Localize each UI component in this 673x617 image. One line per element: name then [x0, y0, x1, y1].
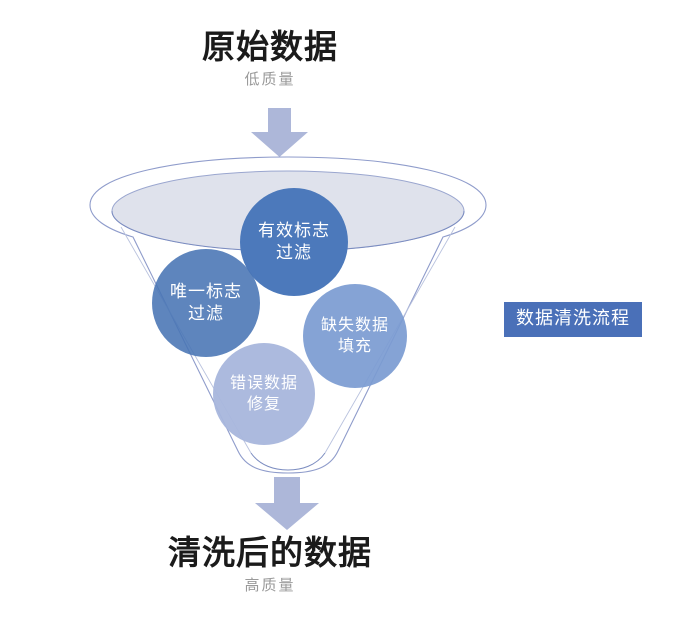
data-cleaning-funnel-diagram: 原始数据 低质量 有效标志 过滤 唯一标志 过滤 缺失数据 填充 错误数据 修复…: [0, 0, 673, 617]
step-label-line2: 过滤: [276, 242, 312, 264]
step-label-line1: 缺失数据: [321, 315, 389, 336]
step-bubble-valid-flag-filter[interactable]: 有效标志 过滤: [240, 188, 348, 296]
step-bubble-unique-flag-filter[interactable]: 唯一标志 过滤: [152, 249, 260, 357]
down-arrow-icon: [252, 477, 322, 531]
step-bubble-error-data-repair[interactable]: 错误数据 修复: [213, 343, 315, 445]
step-label-line1: 有效标志: [258, 220, 330, 242]
subtitle-low-quality: 低质量: [0, 71, 540, 89]
step-label-line2: 填充: [338, 336, 372, 357]
page-title-cleaned-data: 清洗后的数据: [0, 534, 540, 573]
subtitle-high-quality: 高质量: [0, 577, 540, 595]
step-label-line1: 错误数据: [230, 373, 298, 394]
step-label-line2: 修复: [247, 394, 281, 415]
top-heading-block: 原始数据 低质量: [0, 28, 540, 89]
page-title-raw-data: 原始数据: [0, 28, 540, 67]
process-label-badge[interactable]: 数据清洗流程: [504, 302, 642, 337]
step-bubble-missing-data-fill[interactable]: 缺失数据 填充: [303, 284, 407, 388]
step-label-line1: 唯一标志: [170, 281, 242, 303]
bottom-heading-block: 清洗后的数据 高质量: [0, 534, 540, 595]
step-label-line2: 过滤: [188, 303, 224, 325]
down-arrow-icon: [248, 108, 311, 158]
